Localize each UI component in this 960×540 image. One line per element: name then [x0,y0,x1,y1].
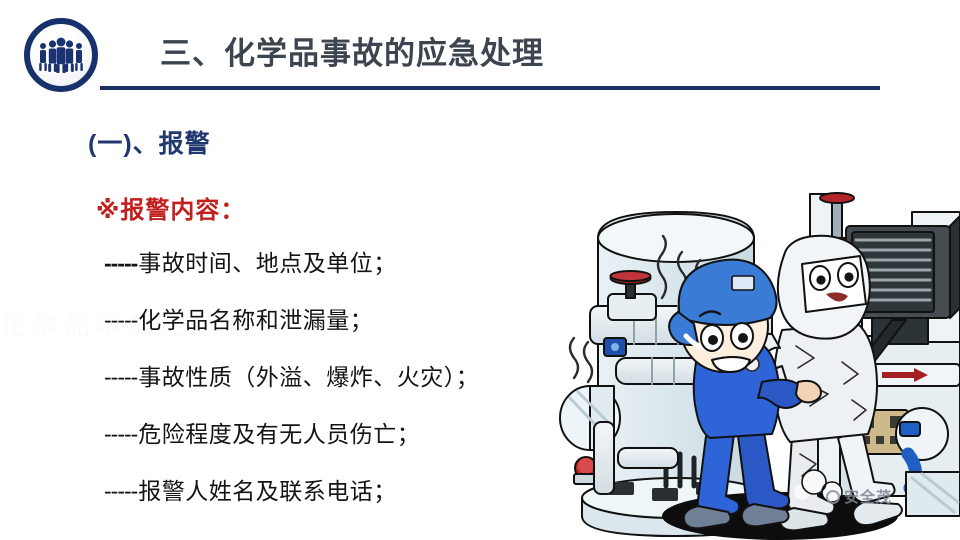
alert-content-list: -----事故时间、地点及单位； -----化学品名称和泄漏量； -----事故… [104,247,604,532]
people-group-icon [24,18,98,92]
watermark: 安全茂 [826,486,892,507]
title-underline [100,86,880,90]
alert-content-heading: ※报警内容： [96,190,245,225]
section-subheading: (一)、报警 [88,124,211,160]
item-dash: ----- [104,247,137,279]
item-text: 事故性质（外溢、爆炸、火灾）； [138,364,479,390]
item-dash: ----- [104,418,137,450]
list-item: -----危险程度及有无人员伤亡； [104,418,604,475]
item-text: 危险程度及有无人员伤亡； [138,421,420,447]
item-dash: ----- [104,475,137,507]
item-text: 化学品名称和泄漏量； [138,307,373,333]
chemical-accident-rescue-illustration [556,186,960,540]
list-item: -----化学品名称和泄漏量； [104,304,604,361]
list-item: -----事故性质（外溢、爆炸、火灾）； [104,361,604,418]
item-dash: ----- [104,304,137,336]
page-title: 三、化学品事故的应急处理 [160,28,544,73]
item-dash: ----- [104,361,137,393]
circle-logo-icon [826,490,840,504]
slide-root: 三、化学品事故的应急处理 (一)、报警 ※报警内容： 化学品事故应急处理 ---… [0,0,960,540]
watermark-text: 安全茂 [844,486,892,507]
item-text: 事故时间、地点及单位； [138,250,397,276]
list-item: -----事故时间、地点及单位； [104,247,604,304]
list-item: -----报警人姓名及联系电话； [104,475,604,532]
item-text: 报警人姓名及联系电话； [138,478,397,504]
